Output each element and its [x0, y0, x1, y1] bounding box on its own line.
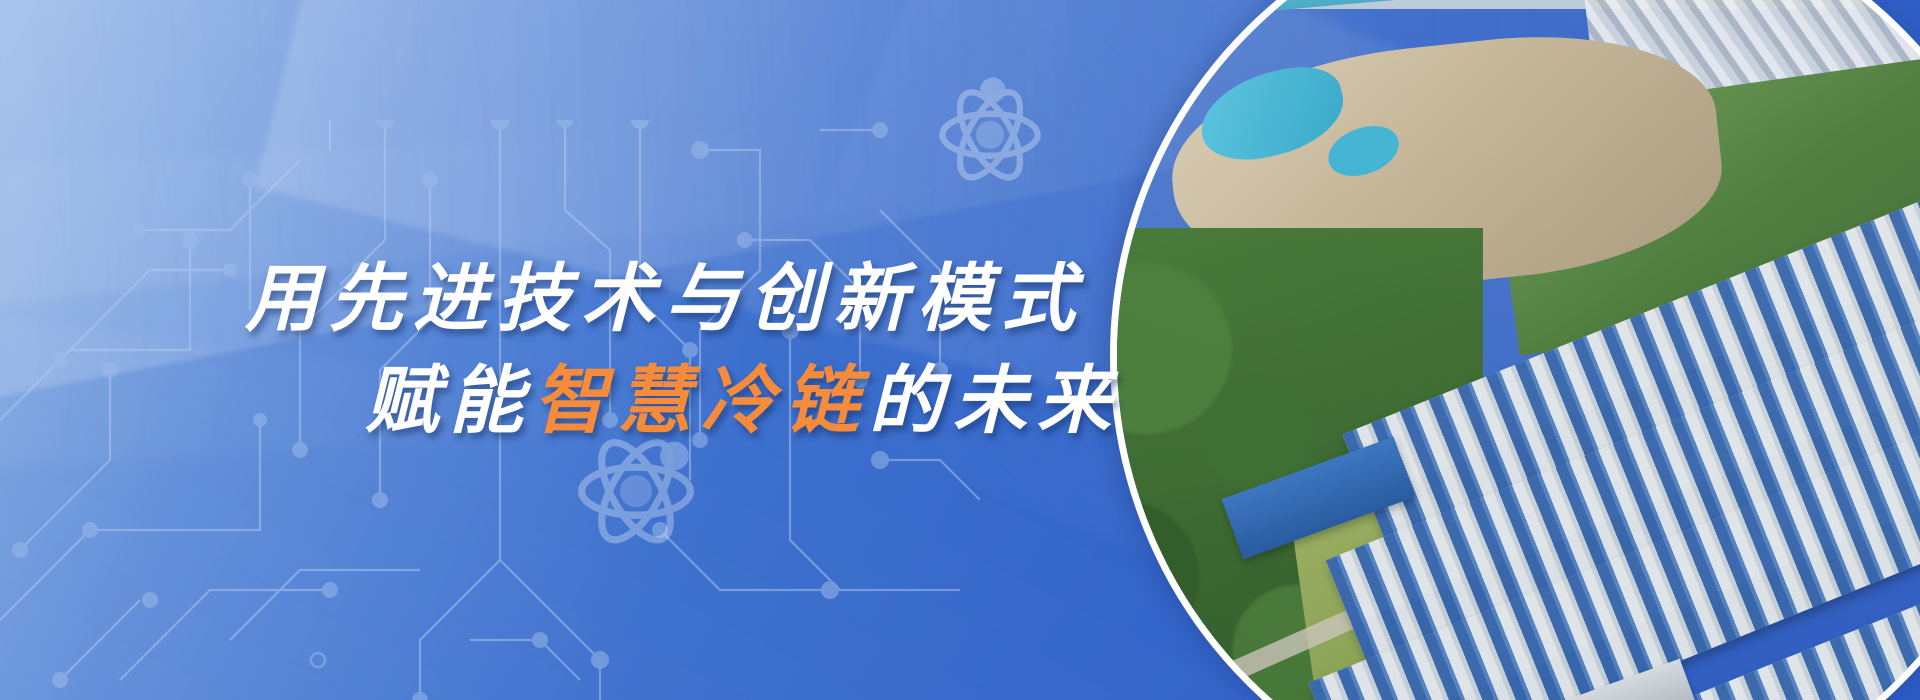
- hero-banner: 用先进技术与创新模式 赋能智慧冷链的未来: [0, 0, 1920, 700]
- headline-line-1: 用先进技术与创新模式: [245, 248, 1230, 350]
- headline-line-2: 赋能智慧冷链的未来: [365, 350, 1230, 452]
- headline-line-2-suffix: 的未来: [869, 358, 1121, 444]
- photo-scene: [1117, 0, 1920, 700]
- headline-highlight: 智慧冷链: [533, 358, 869, 444]
- aerial-factory-photo: [1110, 0, 1920, 700]
- headline-line-2-prefix: 赋能: [365, 358, 533, 444]
- headline-block: 用先进技术与创新模式 赋能智慧冷链的未来: [0, 0, 1230, 700]
- photo-tint-overlay: [1117, 0, 1920, 700]
- headline-line-1-text: 用先进技术与创新模式: [245, 256, 1085, 342]
